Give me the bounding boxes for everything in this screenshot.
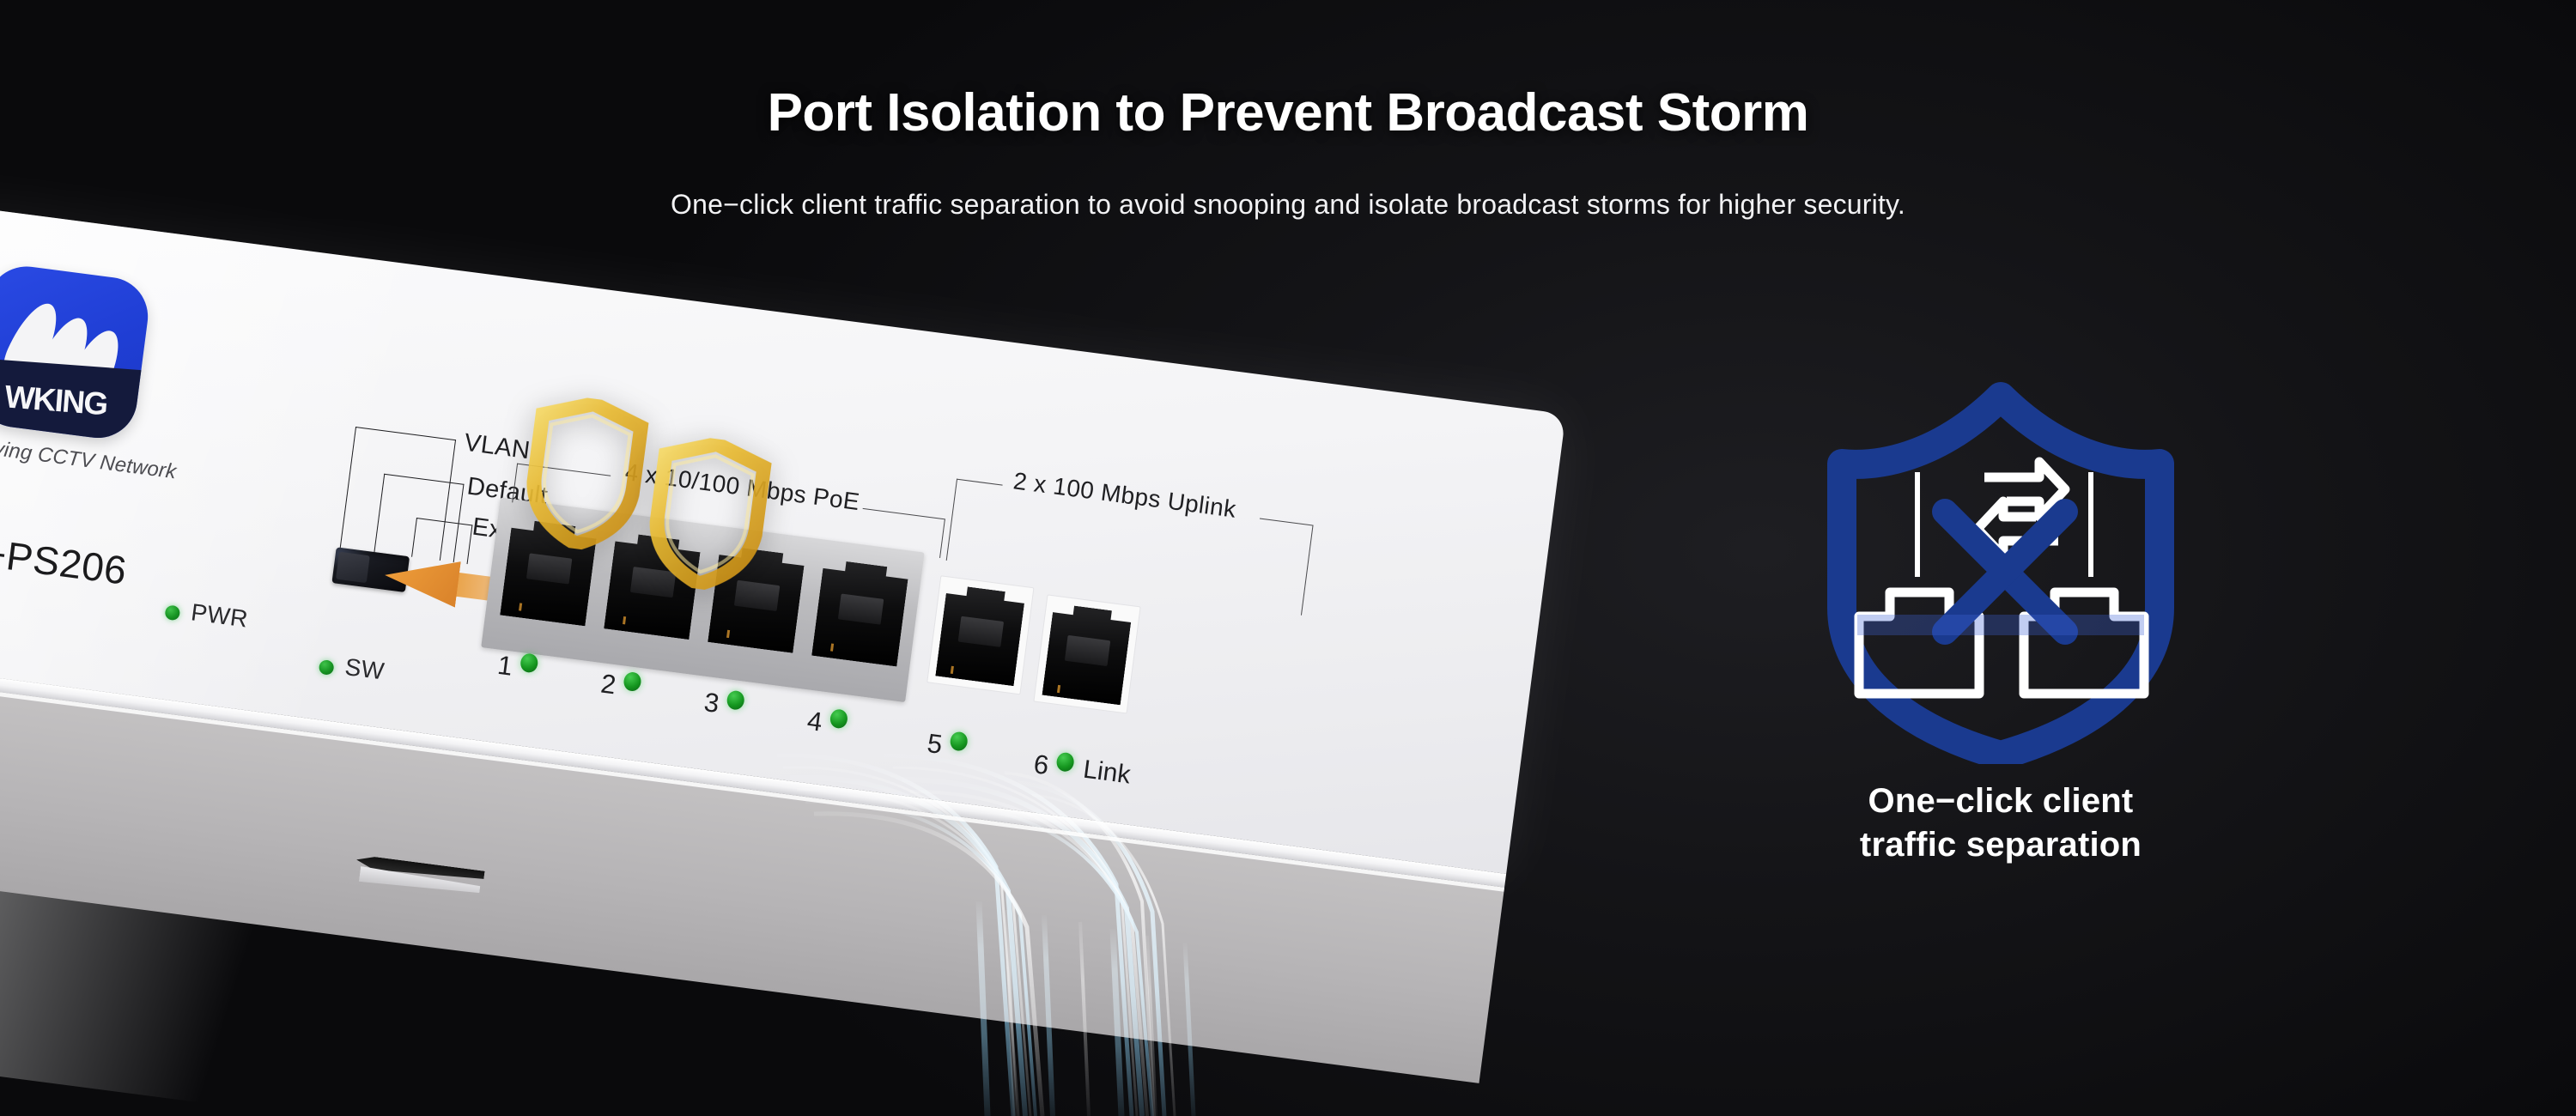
port-number-4: 4: [805, 706, 824, 738]
port-number-6: 6: [1032, 749, 1051, 781]
port-led-3: [726, 689, 745, 710]
feature-callout: One−click client traffic separation: [1803, 378, 2198, 867]
uplink-group-tick-left: [946, 479, 957, 561]
gold-shield-overlay: [519, 391, 651, 556]
shield-port-isolation-icon: [1807, 378, 2194, 764]
page-title: Port Isolation to Prevent Broadcast Stor…: [0, 82, 2576, 143]
port-number-3: 3: [702, 687, 721, 719]
wking-logo: WKING: [0, 262, 153, 443]
poe-group-tick-right: [939, 519, 945, 558]
port-led-6: [1055, 752, 1075, 773]
rj45-port-4[interactable]: [806, 553, 914, 672]
port-number-2: 2: [599, 668, 618, 701]
link-label: Link: [1081, 755, 1132, 791]
page-subtitle: One−click client traffic separation to a…: [0, 189, 2576, 221]
feature-caption-line1: One−click client: [1803, 779, 2198, 823]
dip-toggle-handle[interactable]: [336, 552, 370, 583]
rj45-port-5[interactable]: [927, 575, 1034, 694]
uplink-group-tick-right: [1301, 525, 1314, 616]
port-led-5: [949, 731, 969, 751]
port-number-5: 5: [926, 728, 945, 761]
port-number-1: 1: [495, 650, 514, 682]
network-switch-device: WKING Simplifying CCTV Network WK−PS206 …: [0, 197, 1625, 1116]
port-led-4: [829, 708, 849, 729]
feature-caption-line2: traffic separation: [1803, 823, 2198, 867]
poe-group-line-right: [863, 508, 945, 519]
feature-caption: One−click client traffic separation: [1803, 779, 2198, 867]
sw-led-label: SW: [343, 653, 386, 686]
rj45-port-6[interactable]: [1033, 594, 1140, 713]
poe-group-tick-left: [512, 464, 518, 503]
product-feature-banner: Port Isolation to Prevent Broadcast Stor…: [0, 0, 2576, 1116]
gold-shield-overlay: [642, 432, 775, 597]
port-led-1: [519, 652, 539, 673]
port-led-2: [623, 671, 642, 692]
